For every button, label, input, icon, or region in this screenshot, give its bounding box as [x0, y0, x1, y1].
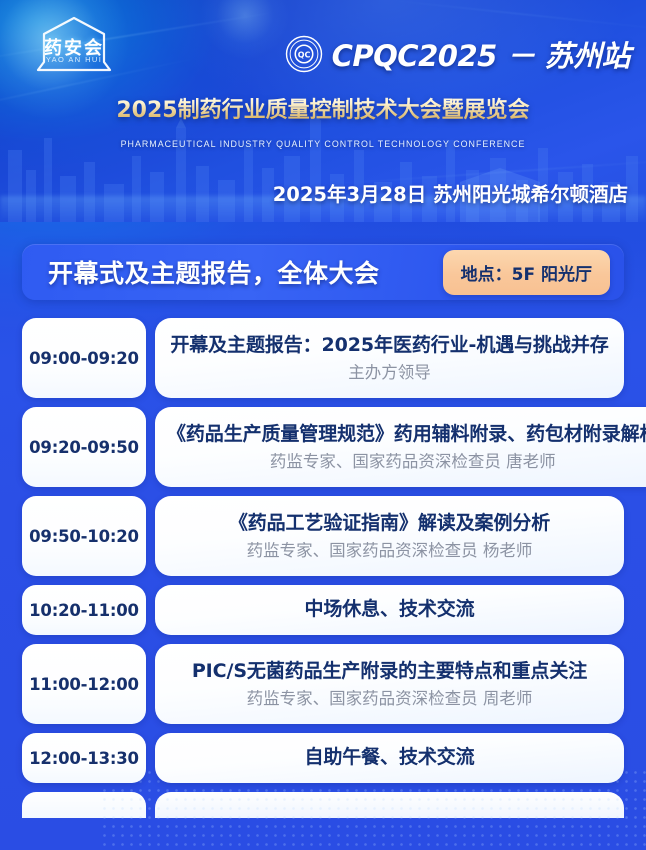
- agenda-content-card: 《药品生产质量管理规范》药用辅料附录、药包材附录解析药监专家、国家药品资深检查员…: [155, 407, 646, 487]
- agenda-session-title: PIC/S无菌药品生产附录的主要特点和重点关注: [192, 660, 587, 684]
- agenda-session-speaker: 主办方领导: [348, 363, 431, 383]
- agenda-section-title: 开幕式及主题报告，全体大会: [48, 254, 380, 290]
- agenda-row: 09:20-09:50《药品生产质量管理规范》药用辅料附录、药包材附录解析药监专…: [22, 407, 624, 487]
- conference-title-en: PHARMACEUTICAL INDUSTRY QUALITY CONTROL …: [0, 139, 646, 149]
- agenda-row: 12:00-13:30自助午餐、技术交流: [22, 733, 624, 783]
- conference-datetime-venue: 2025年3月28日 苏州阳光城希尔顿酒店: [273, 178, 628, 207]
- agenda-session-title: 开幕及主题报告：2025年医药行业-机遇与挑战并存: [170, 334, 608, 358]
- event-code-block: QC CPQC2025 － 苏州站: [285, 33, 630, 75]
- agenda-time-chip: 10:20-11:00: [22, 585, 146, 635]
- agenda-time-chip: 12:00-13:30: [22, 733, 146, 783]
- agenda-content-card: PIC/S无菌药品生产附录的主要特点和重点关注药监专家、国家药品资深检查员 周老…: [155, 644, 624, 724]
- agenda-session-title: 自助午餐、技术交流: [304, 746, 474, 770]
- agenda-row-list: 09:00-09:20开幕及主题报告：2025年医药行业-机遇与挑战并存主办方领…: [22, 318, 624, 783]
- agenda-session-speaker: 药监专家、国家药品资深检查员 周老师: [247, 689, 533, 709]
- conference-poster: 药安会 YAO AN HUI QC CPQC2025 － 苏州站 2025制药行…: [0, 0, 646, 850]
- qc-seal-icon: QC: [285, 35, 323, 73]
- agenda-session-title: 中场休息、技术交流: [304, 598, 474, 622]
- agenda-session-speaker: 药监专家、国家药品资深检查员 杨老师: [247, 541, 533, 561]
- next-time-chip-peek: [22, 792, 146, 818]
- agenda-section-header: 开幕式及主题报告，全体大会 地点：5F 阳光厅: [22, 244, 624, 300]
- agenda-session-title: 《药品工艺验证指南》解读及案例分析: [229, 512, 550, 536]
- brand-logo: 药安会 YAO AN HUI: [22, 14, 126, 76]
- agenda-section: 开幕式及主题报告，全体大会 地点：5F 阳光厅 09:00-09:20开幕及主题…: [0, 222, 646, 818]
- agenda-content-card: 开幕及主题报告：2025年医药行业-机遇与挑战并存主办方领导: [155, 318, 624, 398]
- next-agenda-row-peek: [22, 792, 624, 818]
- agenda-row: 11:00-12:00PIC/S无菌药品生产附录的主要特点和重点关注药监专家、国…: [22, 644, 624, 724]
- brand-logo-en: YAO AN HUI: [22, 55, 126, 64]
- hero-banner: 药安会 YAO AN HUI QC CPQC2025 － 苏州站 2025制药行…: [0, 0, 646, 222]
- agenda-time-chip: 11:00-12:00: [22, 644, 146, 724]
- agenda-time-chip: 09:20-09:50: [22, 407, 146, 487]
- agenda-row: 09:00-09:20开幕及主题报告：2025年医药行业-机遇与挑战并存主办方领…: [22, 318, 624, 398]
- agenda-content-card: 《药品工艺验证指南》解读及案例分析药监专家、国家药品资深检查员 杨老师: [155, 496, 624, 576]
- next-content-card-peek: [155, 792, 624, 818]
- agenda-row: 10:20-11:00中场休息、技术交流: [22, 585, 624, 635]
- agenda-session-speaker: 药监专家、国家药品资深检查员 唐老师: [270, 452, 556, 472]
- agenda-content-card: 自助午餐、技术交流: [155, 733, 624, 783]
- agenda-session-title: 《药品生产质量管理规范》药用辅料附录、药包材附录解析: [167, 423, 646, 447]
- svg-text:QC: QC: [297, 50, 310, 59]
- agenda-time-chip: 09:00-09:20: [22, 318, 146, 398]
- venue-badge: 地点：5F 阳光厅: [443, 250, 610, 295]
- event-code-text: CPQC2025 － 苏州站: [332, 33, 630, 75]
- agenda-time-chip: 09:50-10:20: [22, 496, 146, 576]
- conference-title-cn: 2025制药行业质量控制技术大会暨展览会: [0, 92, 646, 124]
- agenda-row: 09:50-10:20《药品工艺验证指南》解读及案例分析药监专家、国家药品资深检…: [22, 496, 624, 576]
- agenda-content-card: 中场休息、技术交流: [155, 585, 624, 635]
